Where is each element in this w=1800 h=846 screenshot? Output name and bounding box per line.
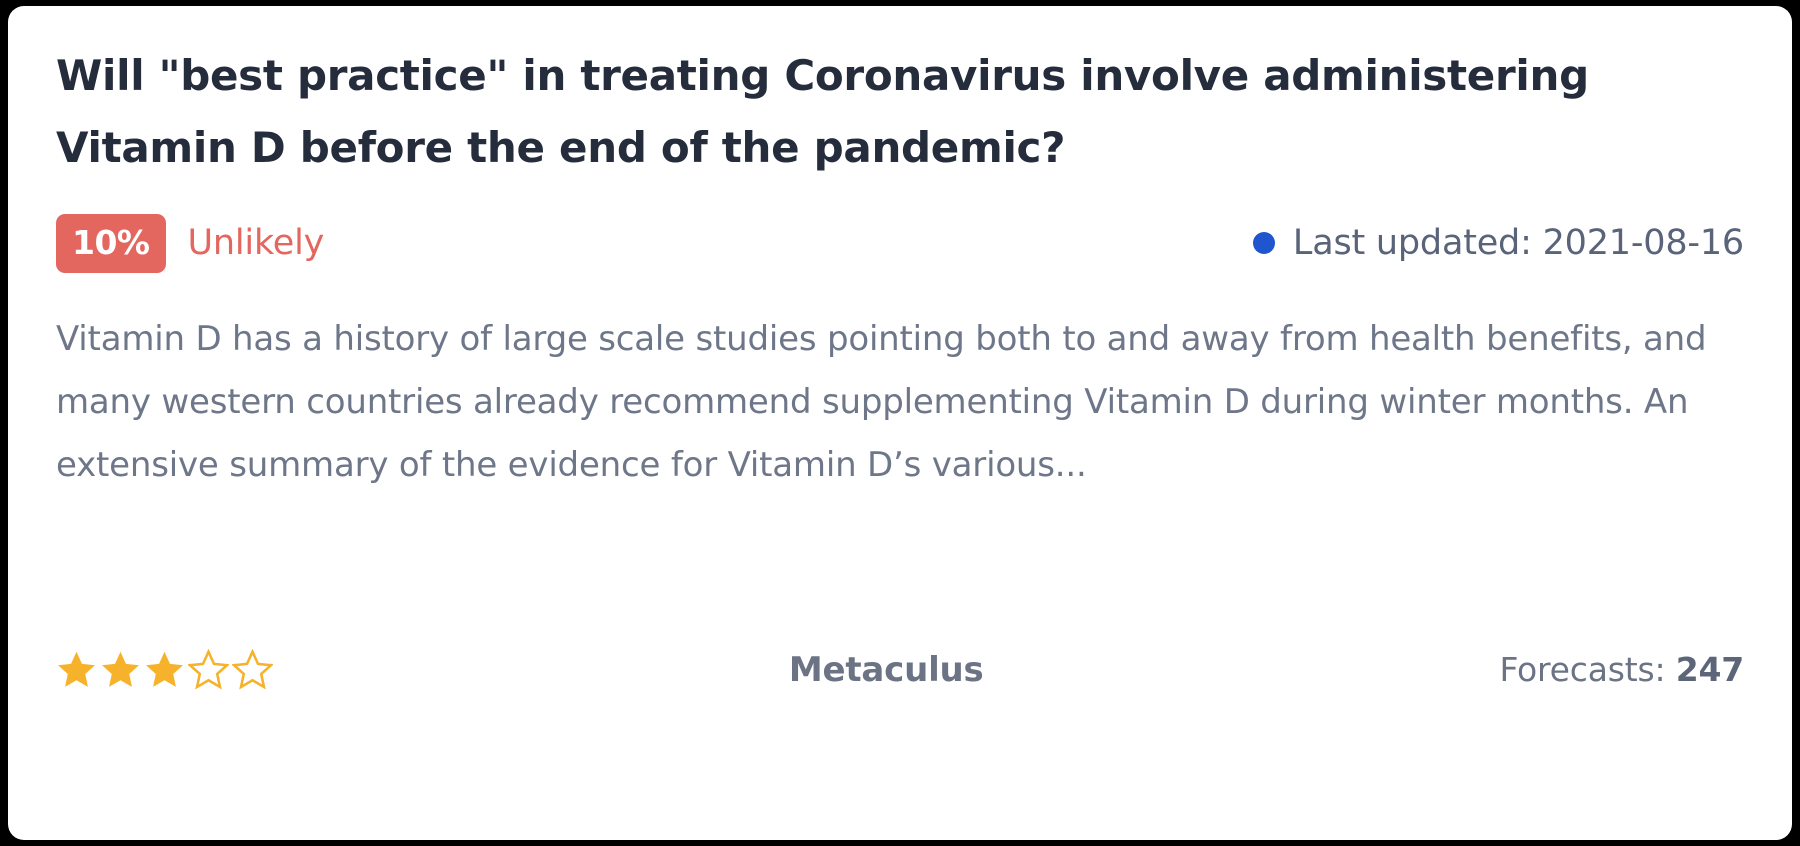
forecast-question-card[interactable]: Will "best practice" in treating Coronav… <box>8 6 1792 840</box>
forecast-count: Forecasts: 247 <box>1499 650 1744 689</box>
probability-group: 10% Unlikely <box>56 214 324 273</box>
question-title: Will "best practice" in treating Coronav… <box>56 40 1716 184</box>
forecast-count-label: Forecasts: <box>1499 650 1675 689</box>
probability-qualifier-label: Unlikely <box>188 223 325 263</box>
star-outline-icon <box>188 649 229 690</box>
star-outline-icon <box>232 649 273 690</box>
star-filled-icon <box>56 649 97 690</box>
source-platform-label[interactable]: Metaculus <box>789 650 984 690</box>
star-rating[interactable] <box>56 649 273 690</box>
card-footer: Metaculus Forecasts: 247 <box>56 649 1744 690</box>
question-meta-row: 10% Unlikely Last updated: 2021-08-16 <box>56 216 1744 270</box>
last-updated-group: Last updated: 2021-08-16 <box>1253 223 1744 263</box>
probability-badge: 10% <box>56 214 166 273</box>
forecast-count-value: 247 <box>1676 650 1744 689</box>
star-filled-icon <box>144 649 185 690</box>
last-updated-label: Last updated: 2021-08-16 <box>1293 223 1744 263</box>
status-dot-icon <box>1253 232 1275 254</box>
question-description: Vitamin D has a history of large scale s… <box>56 308 1744 497</box>
star-filled-icon <box>100 649 141 690</box>
